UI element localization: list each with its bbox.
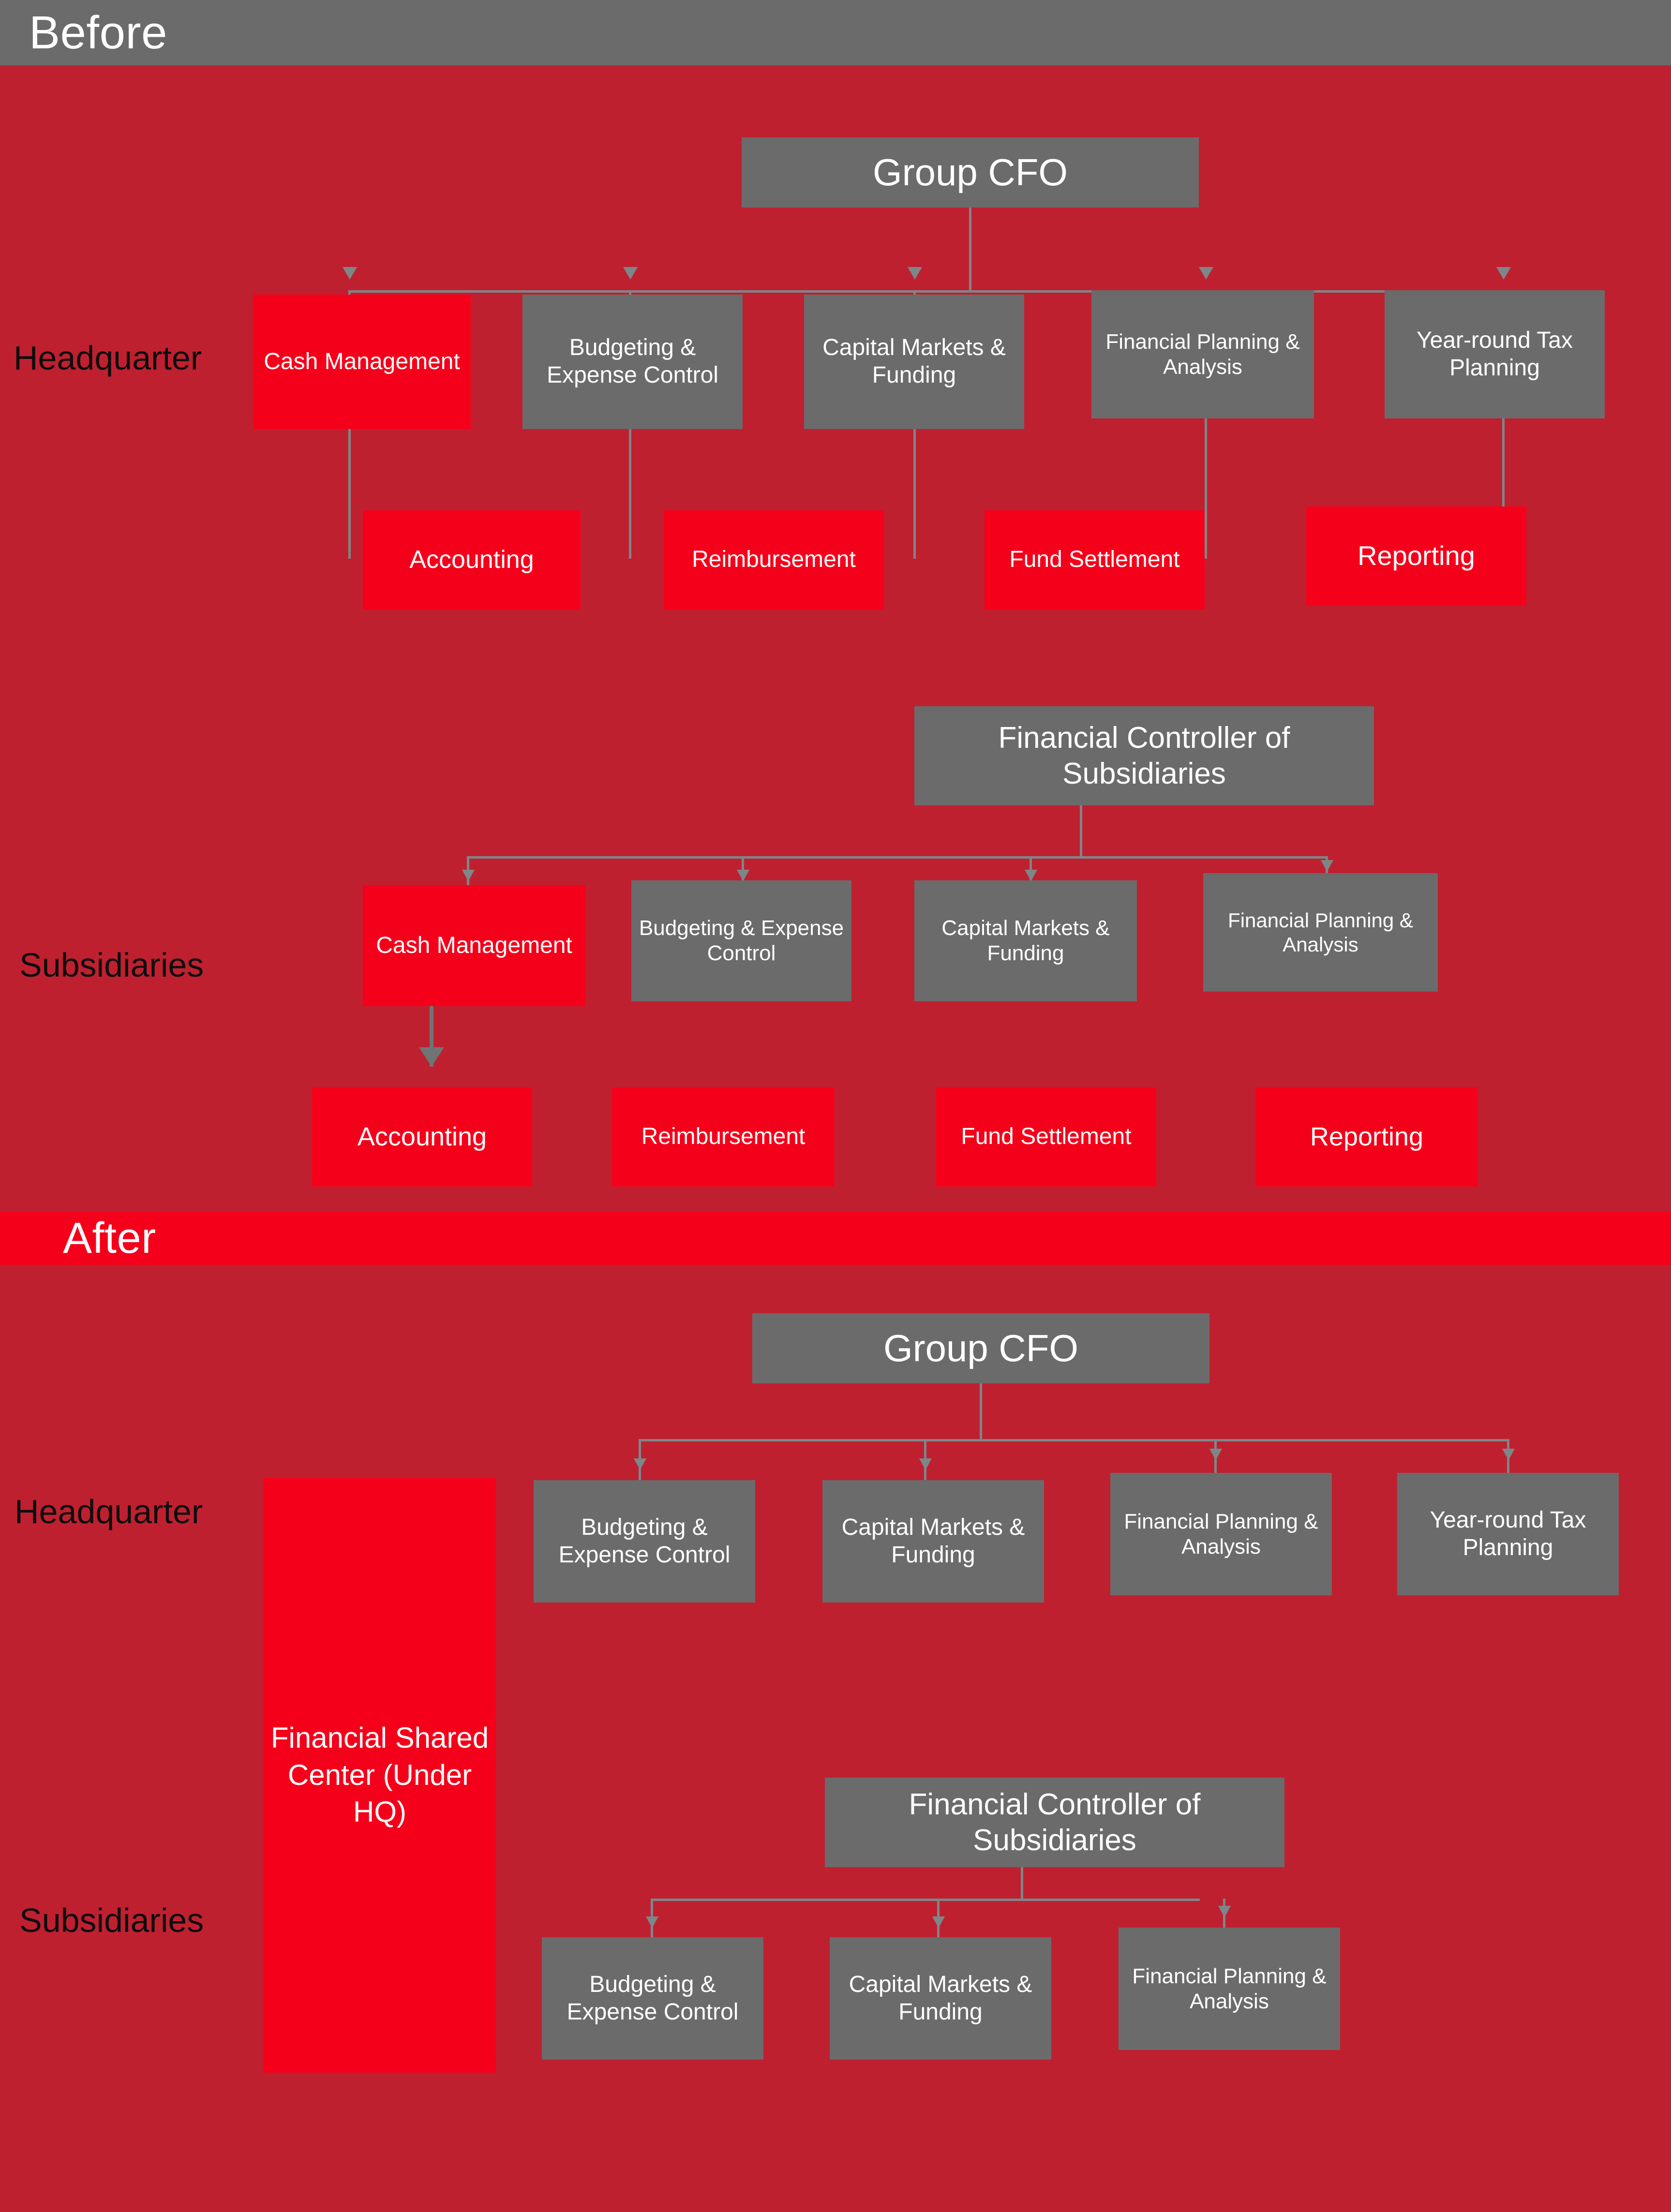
after-sub-arrow-3 [1218, 1906, 1231, 1917]
after-sub-root-node[interactable]: Financial Controller of Subsidiaries [825, 1778, 1284, 1867]
before-group-cfo-label: Group CFO [745, 150, 1196, 194]
before-sub-leaf-2[interactable]: Fund Settlement [936, 1087, 1156, 1187]
before-hq-child-4-label: Year-round Tax Planning [1388, 327, 1602, 382]
after-band: After [0, 1212, 1671, 1265]
after-group-cfo-node[interactable]: Group CFO [752, 1313, 1209, 1383]
before-hq-arrow-2 [623, 267, 638, 280]
before-sub-trunk [1080, 805, 1082, 859]
after-hq-child-3[interactable]: Year-round Tax Planning [1397, 1473, 1619, 1595]
before-hq-leaf-1-label: Reimbursement [667, 546, 881, 574]
before-sub-arrow-4 [1321, 860, 1333, 872]
before-band: Before [0, 0, 1671, 65]
before-sub-leaf-0[interactable]: Accounting [312, 1087, 532, 1187]
before-hq-leaf-3[interactable]: Reporting [1306, 506, 1526, 606]
after-sub-trunk [1021, 1867, 1023, 1899]
before-sub-arrow-3 [1025, 870, 1037, 881]
before-band-label: Before [29, 6, 167, 59]
after-hq-child-2[interactable]: Financial Planning & Analysis [1110, 1473, 1332, 1595]
after-hq-bus [639, 1439, 1509, 1441]
before-hq-leaf-2[interactable]: Fund Settlement [985, 510, 1205, 609]
before-hq-trunk [969, 208, 971, 292]
before-headquarter-label: Headquarter [14, 339, 202, 377]
before-hq-child-3-label: Financial Planning & Analysis [1094, 329, 1311, 380]
after-sub-child-2-label: Financial Planning & Analysis [1121, 1964, 1337, 2014]
before-sub-leaf-1-label: Reimbursement [615, 1123, 832, 1151]
before-hq-leaf-3-label: Reporting [1309, 540, 1523, 572]
before-sub-leaf-3[interactable]: Reporting [1255, 1087, 1478, 1187]
before-sub-child-2-label: Capital Markets & Funding [917, 916, 1134, 966]
before-sub-root-node[interactable]: Financial Controller of Subsidiaries [914, 706, 1374, 805]
after-hq-arrow-1 [634, 1458, 646, 1470]
before-sub-child-2[interactable]: Capital Markets & Funding [914, 880, 1137, 1001]
after-hq-child-2-label: Financial Planning & Analysis [1113, 1509, 1329, 1559]
after-hq-child-1[interactable]: Capital Markets & Funding [822, 1480, 1044, 1603]
before-hq-arrow-4 [1199, 267, 1213, 280]
before-hq-leaf-0-label: Accounting [366, 545, 578, 575]
before-hq-child-2[interactable]: Capital Markets & Funding [804, 295, 1024, 429]
before-hq-leaf-0[interactable]: Accounting [363, 510, 581, 609]
before-hq-child-3[interactable]: Financial Planning & Analysis [1091, 290, 1314, 418]
after-financial-shared-center-label: Financial Shared Center (Under HQ) [267, 1720, 493, 1831]
after-financial-shared-center-node[interactable]: Financial Shared Center (Under HQ) [264, 1478, 496, 2073]
after-band-label: After [63, 1214, 156, 1263]
before-subsidiaries-label: Subsidiaries [19, 946, 204, 984]
after-sub-child-1[interactable]: Capital Markets & Funding [830, 1937, 1051, 2060]
before-hq-arrow-1 [343, 267, 357, 280]
after-group-cfo-label: Group CFO [755, 1326, 1207, 1370]
before-hq-child-1[interactable]: Budgeting & Expense Control [522, 295, 743, 429]
before-sub-child-1[interactable]: Budgeting & Expense Control [631, 880, 851, 1001]
before-sub-leaf-0-label: Accounting [315, 1122, 529, 1153]
before-hq-child-0-label: Cash Management [256, 348, 468, 376]
after-sub-root-label: Financial Controller of Subsidiaries [828, 1787, 1282, 1857]
before-sub-child-0[interactable]: Cash Management [363, 885, 585, 1006]
after-sub-bus [651, 1899, 1200, 1901]
after-hq-child-3-label: Year-round Tax Planning [1400, 1507, 1616, 1561]
before-hq-leaf-2-label: Fund Settlement [987, 546, 1202, 574]
before-group-cfo-node[interactable]: Group CFO [742, 137, 1199, 208]
after-hq-arrow-2 [919, 1458, 932, 1470]
before-sub-child-3-label: Financial Planning & Analysis [1206, 908, 1435, 956]
before-hq-arrow-3 [908, 267, 922, 280]
before-hq-bus [348, 290, 1505, 293]
before-sub-leaf-3-label: Reporting [1258, 1122, 1475, 1153]
after-hq-child-0[interactable]: Budgeting & Expense Control [534, 1480, 755, 1603]
before-hq-child-0[interactable]: Cash Management [253, 295, 471, 429]
before-sub-arrow-1 [462, 870, 475, 881]
before-hq-child-2-label: Capital Markets & Funding [807, 334, 1021, 389]
before-sub-arrow-2 [737, 870, 749, 881]
before-sub-root-label: Financial Controller of Subsidiaries [917, 720, 1371, 791]
before-hq-arrow-5 [1496, 267, 1511, 280]
after-hq-child-0-label: Budgeting & Expense Control [537, 1514, 752, 1569]
before-sub-cash-to-accounting-arrow [419, 1047, 444, 1067]
before-sub-child-0-label: Cash Management [366, 932, 582, 960]
before-hq-child-1-label: Budgeting & Expense Control [525, 334, 740, 389]
after-subsidiaries-label: Subsidiaries [19, 1901, 204, 1940]
after-headquarter-label: Headquarter [15, 1492, 203, 1531]
before-hq-leaf-1[interactable]: Reimbursement [664, 510, 884, 609]
after-sub-child-2[interactable]: Financial Planning & Analysis [1119, 1928, 1340, 2050]
after-hq-child-1-label: Capital Markets & Funding [825, 1514, 1041, 1569]
after-hq-arrow-3 [1209, 1449, 1222, 1460]
after-sub-arrow-2 [932, 1916, 945, 1928]
after-sub-child-0[interactable]: Budgeting & Expense Control [542, 1937, 763, 2060]
after-hq-arrow-4 [1502, 1449, 1515, 1460]
after-sub-child-1-label: Capital Markets & Funding [833, 1971, 1048, 2026]
diagram-canvas: Before Headquarter Group CFO Cash Manage… [0, 0, 1671, 2212]
after-sub-child-0-label: Budgeting & Expense Control [545, 1971, 761, 2026]
before-hq-child-4[interactable]: Year-round Tax Planning [1385, 290, 1605, 418]
after-hq-trunk [980, 1383, 982, 1441]
before-sub-leaf-1[interactable]: Reimbursement [612, 1087, 835, 1187]
before-sub-leaf-2-label: Fund Settlement [939, 1123, 1153, 1151]
before-sub-bus [467, 856, 1328, 859]
before-sub-child-3[interactable]: Financial Planning & Analysis [1203, 873, 1438, 992]
before-sub-child-1-label: Budgeting & Expense Control [634, 916, 849, 966]
after-sub-arrow-1 [646, 1916, 658, 1928]
